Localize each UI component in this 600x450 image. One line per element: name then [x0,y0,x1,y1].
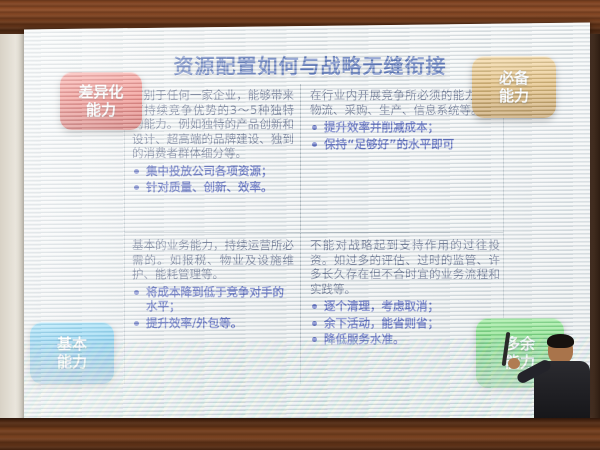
badge-line-1: 差异化 [78,83,123,101]
badge-basic-capability: 基本 能力 [30,322,114,384]
list-item: 降低服务水准。 [310,332,500,347]
list-item: 余下活动，能省则省； [310,316,500,331]
badge-line-1: 必备 [499,69,529,87]
badge-line-2: 能力 [499,87,529,105]
slide-title: 资源配置如何与战略无缝衔接 [120,50,500,78]
badge-line-2: 能力 [86,101,116,119]
list-item: 针对质量、创新、效率。 [132,180,294,195]
list-item: 将成本降到低于竞争对手的水平； [132,285,294,314]
quadrant-differentiating: 有别于任何一家企业，能够带来可持续竞争优势的3～5种独特的能力。例如独特的产品创… [124,84,300,232]
list-item: 提升效率/外包等。 [132,316,294,331]
list-item: 集中投放公司各项资源； [132,164,294,179]
matrix-vertical-divider [300,84,301,384]
list-item: 提升效率并削减成本； [310,120,500,135]
quadrant-bullet-list: 提升效率并削减成本； 保持“足够好”的水平即可 [310,120,500,151]
capability-matrix: 有别于任何一家企业，能够带来可持续竞争优势的3～5种独特的能力。例如独特的产品创… [124,84,504,384]
list-item: 逐个清理，考虑取消； [310,299,500,314]
badge-essential-capability: 必备 能力 [472,56,556,118]
quadrant-basic: 基本的业务能力，持续运营所必需的。如报税、物业及设施维护、能耗管理等。 将成本降… [124,234,300,384]
presenter-figure [530,336,594,428]
badge-differentiating-capability: 差异化 能力 [60,72,142,130]
quadrant-bullet-list: 将成本降到低于竞争对手的水平； 提升效率/外包等。 [132,285,294,331]
quadrant-bullet-list: 逐个清理，考虑取消； 余下活动，能省则省； 降低服务水准。 [310,299,500,347]
quadrant-paragraph: 不能对战略起到支持作用的过往投资。如过多的评估、过时的监管、许多长久存在但不合时… [310,238,500,296]
projected-slide-photo: 资源配置如何与战略无缝衔接 有别于任何一家企业，能够带来可持续竞争优势的3～5种… [0,0,600,450]
presenter-hair [547,334,574,348]
matrix-horizontal-divider [124,232,504,233]
quadrant-paragraph: 有别于任何一家企业，能够带来可持续竞争优势的3～5种独特的能力。例如独特的产品创… [132,88,294,161]
slide-title-text: 资源配置如何与战略无缝衔接 [174,50,447,79]
presenter-hand [508,358,520,369]
quadrant-bullet-list: 集中投放公司各项资源； 针对质量、创新、效率。 [132,164,294,195]
room-wall-left [0,30,26,422]
quadrant-paragraph: 基本的业务能力，持续运营所必需的。如报税、物业及设施维护、能耗管理等。 [132,238,294,282]
wood-panel-bottom [0,418,600,450]
list-item: 保持“足够好”的水平即可 [310,137,500,152]
badge-line-2: 能力 [57,353,87,371]
quadrant-surplus: 不能对战略起到支持作用的过往投资。如过多的评估、过时的监管、许多长久存在但不合时… [302,234,504,384]
badge-line-1: 基本 [57,335,87,353]
